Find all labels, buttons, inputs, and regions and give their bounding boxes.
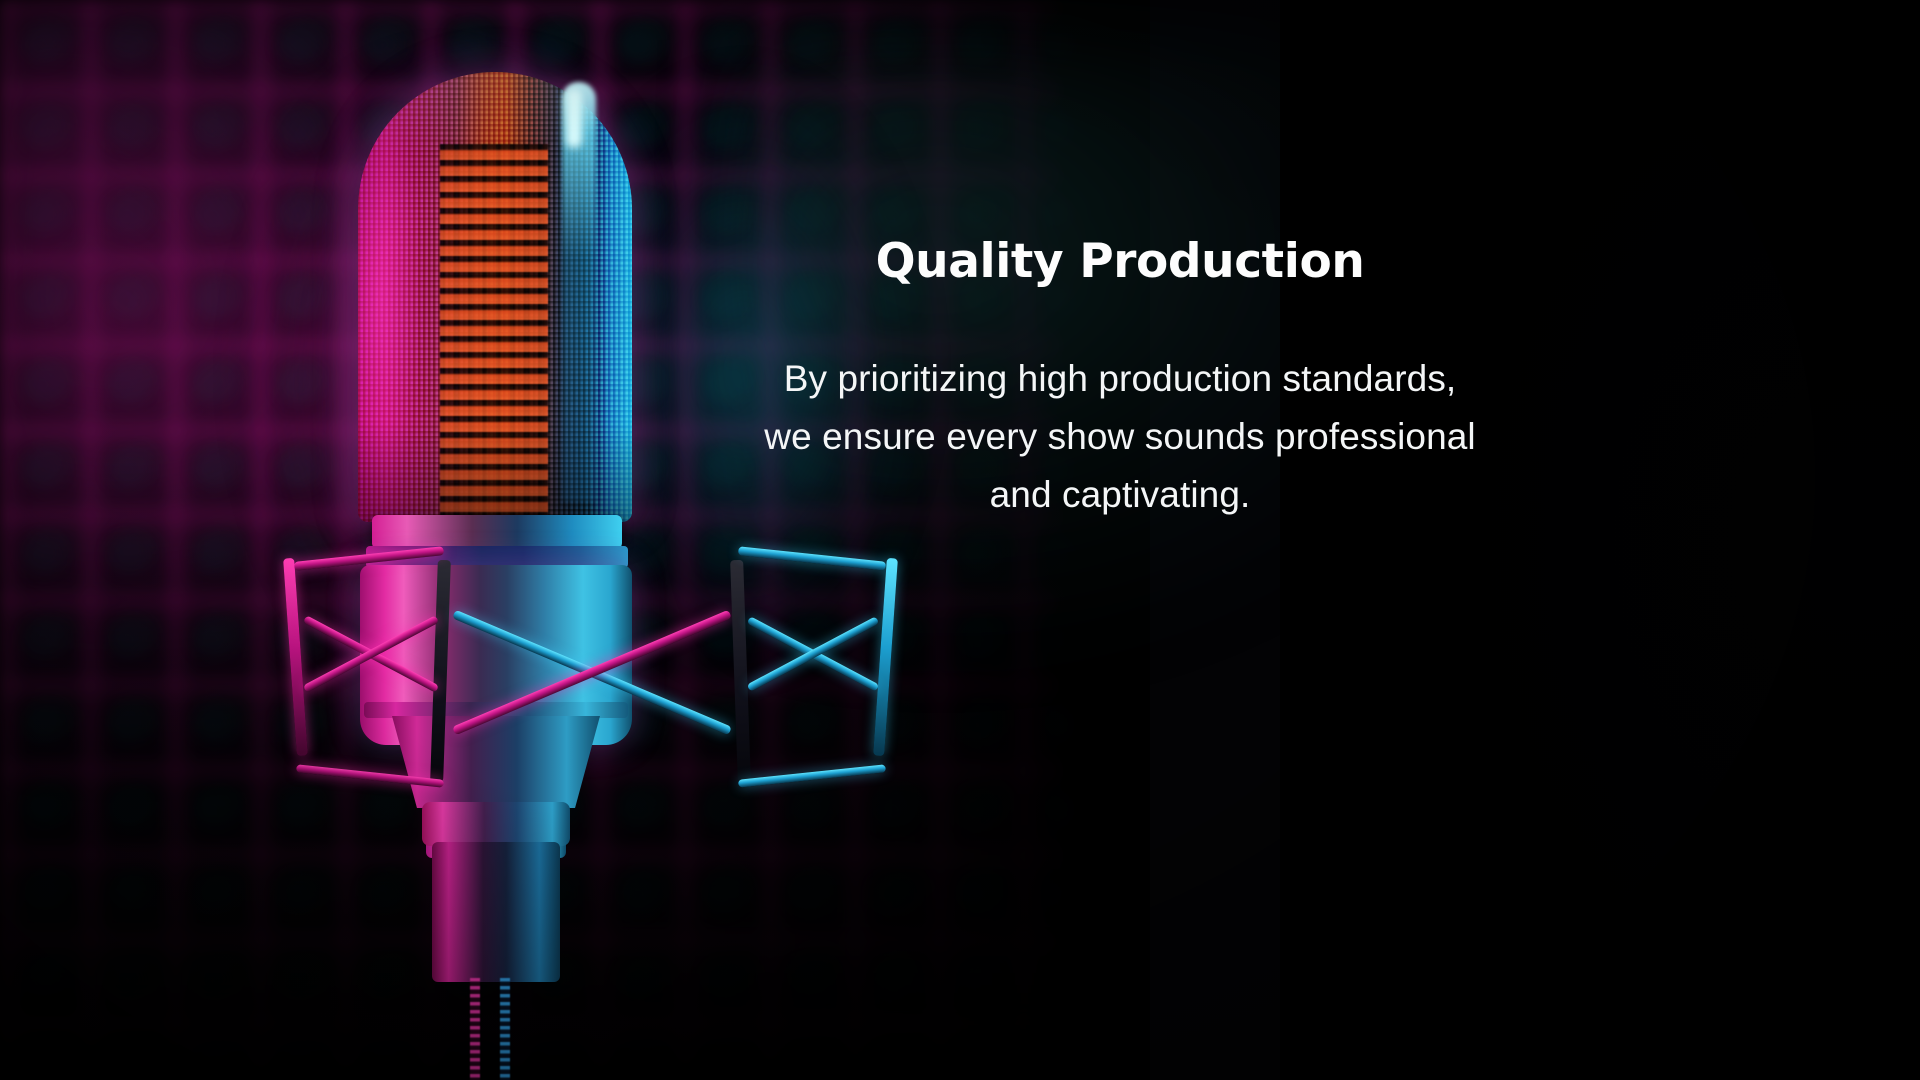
mount-bottom-left-bar (296, 764, 444, 787)
right-dark-area (1280, 0, 1920, 1080)
mount-top-right-bar (738, 546, 886, 570)
hero-banner: Quality Production By prioritizing high … (0, 0, 1920, 1080)
microphone-cable-right (500, 978, 510, 1080)
mount-top-left-bar (294, 546, 444, 571)
mount-upright-right-outer (873, 558, 898, 756)
studio-microphone (330, 60, 850, 1080)
shock-mount (282, 540, 902, 870)
mount-upright-left-outer (283, 558, 308, 756)
hero-description: By prioritizing high production standard… (760, 350, 1480, 524)
mount-upright-right-inner (730, 560, 751, 782)
mount-upright-left-inner (430, 560, 451, 782)
microphone-cable-left (470, 978, 480, 1080)
mount-bottom-right-bar (738, 764, 886, 787)
page-title: Quality Production (760, 236, 1480, 288)
grille-specular-glint (566, 88, 582, 148)
hero-text-block: Quality Production By prioritizing high … (760, 236, 1480, 524)
